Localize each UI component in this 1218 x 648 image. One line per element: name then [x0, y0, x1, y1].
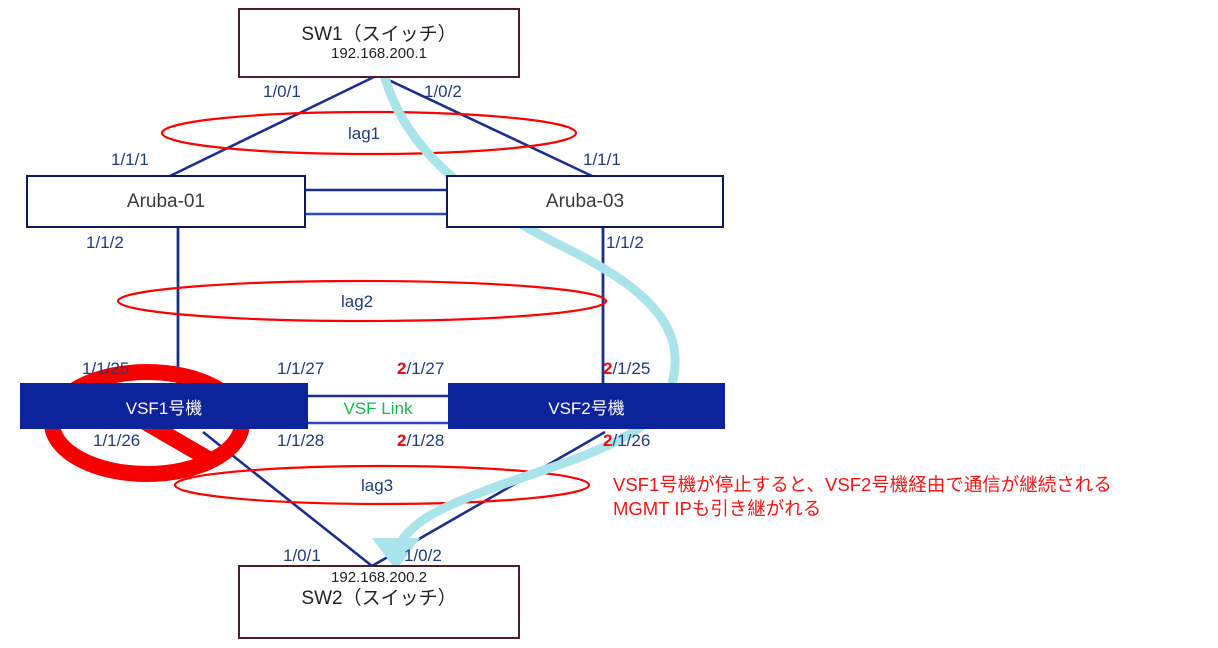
sw2-name: SW2（スイッチ） [301, 588, 456, 610]
port-aruba01-uplink: 1/1/1 [111, 151, 149, 168]
aruba03-label: Aruba-03 [546, 191, 624, 213]
port-vsf1-uplink: 1/1/25 [82, 360, 129, 377]
node-sw2[interactable]: 192.168.200.2 SW2（スイッチ） [238, 565, 520, 639]
port-vsf1-downlink: 1/1/26 [93, 432, 140, 449]
port-vsf2-downlink: 2/1/26 [603, 432, 650, 449]
node-vsf1[interactable]: VSF1号機 [20, 383, 308, 429]
failover-annotation: VSF1号機が停止すると、VSF2号機経由で通信が継続される MGMT IPも引… [613, 473, 1112, 522]
node-sw1[interactable]: SW1（スイッチ） 192.168.200.1 [238, 8, 520, 78]
aruba01-label: Aruba-01 [127, 191, 205, 213]
port-vsf1-link-up: 1/1/27 [277, 360, 324, 377]
node-vsf2[interactable]: VSF2号機 [448, 383, 725, 429]
lag1-label: lag1 [348, 125, 380, 142]
port-aruba03-downlink: 1/1/2 [606, 234, 644, 251]
port-sw2-right: 1/0/2 [404, 547, 442, 564]
vsf1-label: VSF1号機 [126, 394, 203, 419]
node-aruba03[interactable]: Aruba-03 [446, 175, 724, 228]
sw2-ip: 192.168.200.2 [331, 570, 427, 586]
port-sw2-left: 1/0/1 [283, 547, 321, 564]
lag2-label: lag2 [341, 293, 373, 310]
vsf-link-label: VSF Link [308, 399, 448, 419]
port-vsf2-downlink-rest: /1/26 [612, 431, 650, 450]
failover-annotation-line2: MGMT IPも引き継がれる [613, 497, 1112, 521]
sw1-name: SW1（スイッチ） [301, 24, 456, 46]
port-sw1-right: 1/0/2 [424, 83, 462, 100]
lag3-label: lag3 [361, 477, 393, 494]
port-vsf2-link-up: 2/1/27 [397, 360, 444, 377]
port-vsf2-link-down: 2/1/28 [397, 432, 444, 449]
port-vsf2-uplink-rest: /1/25 [612, 359, 650, 378]
sw1-ip: 192.168.200.1 [331, 46, 427, 62]
diagram-vector-layer [0, 0, 1218, 648]
vsf2-label: VSF2号機 [548, 394, 625, 419]
port-vsf2-link-down-rest: /1/28 [406, 431, 444, 450]
port-vsf2-uplink: 2/1/25 [603, 360, 650, 377]
network-diagram-canvas: SW1（スイッチ） 192.168.200.1 Aruba-01 Aruba-0… [0, 0, 1218, 648]
port-sw1-left: 1/0/1 [263, 83, 301, 100]
failover-annotation-line1: VSF1号機が停止すると、VSF2号機経由で通信が継続される [613, 473, 1112, 497]
port-vsf2-link-up-rest: /1/27 [406, 359, 444, 378]
node-aruba01[interactable]: Aruba-01 [26, 175, 306, 228]
port-aruba03-uplink: 1/1/1 [583, 151, 621, 168]
port-aruba01-downlink: 1/1/2 [86, 234, 124, 251]
port-vsf1-link-down: 1/1/28 [277, 432, 324, 449]
